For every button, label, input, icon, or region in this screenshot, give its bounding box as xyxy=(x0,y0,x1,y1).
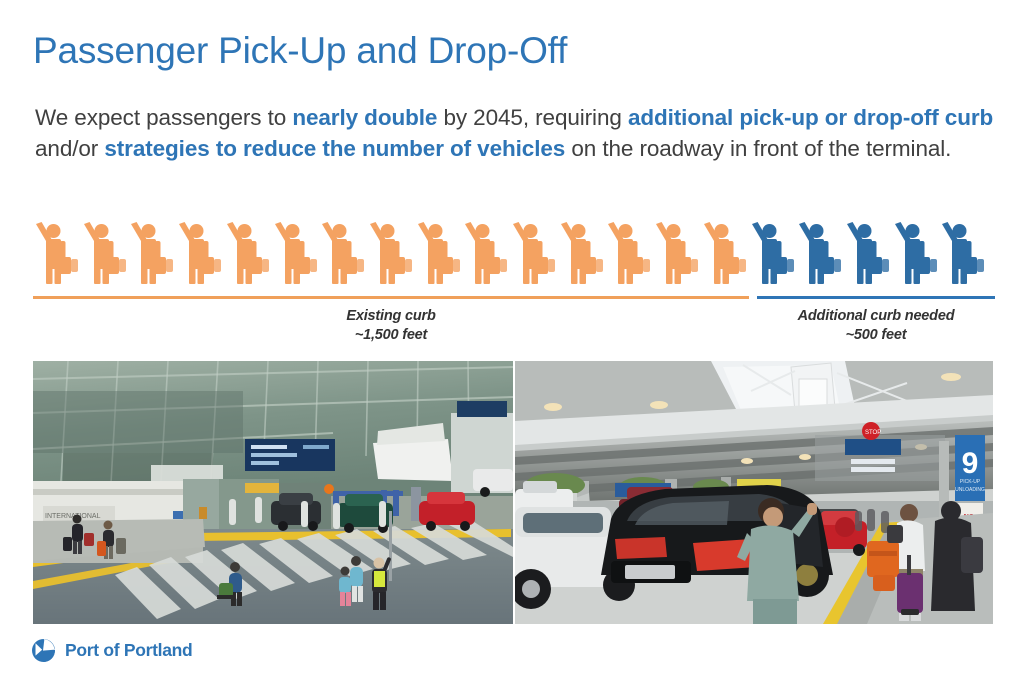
passenger-with-luggage-icon-existing xyxy=(701,222,749,284)
port-of-portland-logo: Port of Portland xyxy=(31,638,192,663)
existing-curb-label: Existing curb ~1,500 feet xyxy=(33,307,749,345)
existing-curb-rule xyxy=(33,296,749,299)
body-highlight-2: additional pick-up or drop-off curb xyxy=(628,105,993,130)
passenger-with-luggage-icon-existing xyxy=(415,222,463,284)
passenger-with-luggage-icon-existing xyxy=(128,222,176,284)
passenger-with-luggage-icon-existing xyxy=(605,222,653,284)
passenger-with-luggage-icon-additional xyxy=(844,222,892,284)
port-of-portland-mark-icon xyxy=(31,638,56,663)
body-segment-1: We expect passengers to xyxy=(35,105,292,130)
passenger-with-luggage-icon-existing xyxy=(558,222,606,284)
photo-covered-roadway: STOP 9 PICK-UP UNLOADING NO PAR xyxy=(515,361,993,624)
slide-canvas: Passenger Pick-Up and Drop-Off We expect… xyxy=(0,0,1024,683)
passenger-with-luggage-icon-additional xyxy=(796,222,844,284)
passenger-with-luggage-icon-existing xyxy=(653,222,701,284)
svg-text:PICK-UP: PICK-UP xyxy=(960,479,981,485)
passenger-with-luggage-icon-existing xyxy=(462,222,510,284)
passenger-with-luggage-icon-additional xyxy=(939,222,987,284)
passenger-pictogram-row xyxy=(33,222,995,284)
passenger-with-luggage-icon-additional xyxy=(749,222,797,284)
existing-curb-label-title: Existing curb xyxy=(33,307,749,326)
photo-terminal-crosswalk: INTERNATIONAL xyxy=(33,361,513,624)
passenger-with-luggage-icon-existing xyxy=(272,222,320,284)
logo-text: Port of Portland xyxy=(65,640,192,661)
body-highlight-3: strategies to reduce the number of vehic… xyxy=(104,136,565,161)
svg-text:STOP: STOP xyxy=(865,430,881,436)
body-highlight-1: nearly double xyxy=(292,105,437,130)
photo-right-illustration: STOP 9 PICK-UP UNLOADING NO PAR xyxy=(515,361,993,624)
body-segment-3: and/or xyxy=(35,136,104,161)
additional-curb-label: Additional curb needed ~500 feet xyxy=(757,307,995,345)
existing-curb-label-value: ~1,500 feet xyxy=(33,326,749,345)
passenger-with-luggage-icon-existing xyxy=(33,222,81,284)
body-segment-4: on the roadway in front of the terminal. xyxy=(565,136,951,161)
passenger-with-luggage-icon-additional xyxy=(892,222,940,284)
body-paragraph: We expect passengers to nearly double by… xyxy=(35,102,995,164)
photo-left-illustration: INTERNATIONAL xyxy=(33,361,513,624)
svg-text:9: 9 xyxy=(962,447,979,480)
additional-curb-label-title: Additional curb needed xyxy=(757,307,995,326)
passenger-with-luggage-icon-existing xyxy=(81,222,129,284)
body-segment-2: by 2045, requiring xyxy=(437,105,628,130)
passenger-with-luggage-icon-existing xyxy=(510,222,558,284)
svg-text:UNLOADING: UNLOADING xyxy=(955,487,985,493)
additional-curb-rule xyxy=(757,296,995,299)
passenger-with-luggage-icon-existing xyxy=(319,222,367,284)
passenger-with-luggage-icon-existing xyxy=(367,222,415,284)
page-title: Passenger Pick-Up and Drop-Off xyxy=(33,30,567,72)
additional-curb-label-value: ~500 feet xyxy=(757,326,995,345)
passenger-with-luggage-icon-existing xyxy=(176,222,224,284)
passenger-with-luggage-icon-existing xyxy=(224,222,272,284)
